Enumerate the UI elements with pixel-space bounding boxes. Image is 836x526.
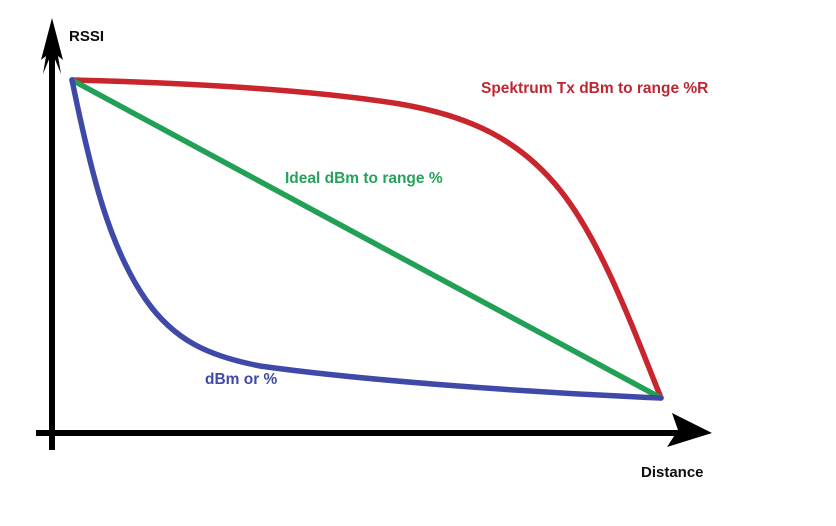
series-label-ideal: Ideal dBm to range %	[285, 170, 443, 188]
series-label-spektrum: Spektrum Tx dBm to range %R	[481, 80, 708, 98]
x-axis-label: Distance	[641, 464, 704, 481]
y-axis-label: RSSI	[69, 28, 104, 45]
series-line-ideal	[72, 80, 661, 398]
series-label-dbm: dBm or %	[205, 371, 277, 389]
chart-canvas: RSSI Distance Spektrum Tx dBm to range %…	[0, 0, 836, 526]
plot-area	[0, 0, 836, 526]
